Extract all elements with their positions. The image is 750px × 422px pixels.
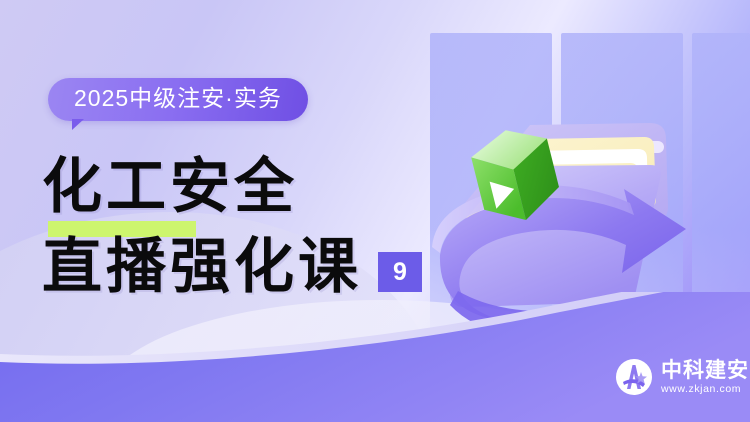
headline-line-2: 直播强化课	[42, 232, 362, 302]
brand-logo[interactable]: 中科建安 www.zkjan.com	[615, 358, 749, 396]
course-promo-banner: 2025中级注安·实务 化工安全 直播强化课 9 中科建安 www.zkjan.…	[0, 0, 750, 422]
headline-row-2: 直播强化课 9	[42, 232, 462, 302]
brand-logo-text: 中科建安 www.zkjan.com	[661, 360, 749, 395]
bottom-wave-band	[0, 292, 750, 422]
headline-block: 化工安全 直播强化课 9	[42, 152, 462, 302]
brand-name: 中科建安	[661, 360, 749, 381]
course-tag-label: 2025中级注安·实务	[48, 78, 308, 121]
brand-url: www.zkjan.com	[661, 384, 749, 395]
episode-number-badge: 9	[378, 252, 422, 292]
headline-row-1: 化工安全	[42, 152, 462, 222]
course-tag-badge: 2025中级注安·实务	[48, 78, 308, 121]
badge-tail-decoration	[72, 119, 84, 130]
headline-line-1: 化工安全	[42, 152, 462, 222]
person-star-circle-icon	[615, 358, 653, 396]
